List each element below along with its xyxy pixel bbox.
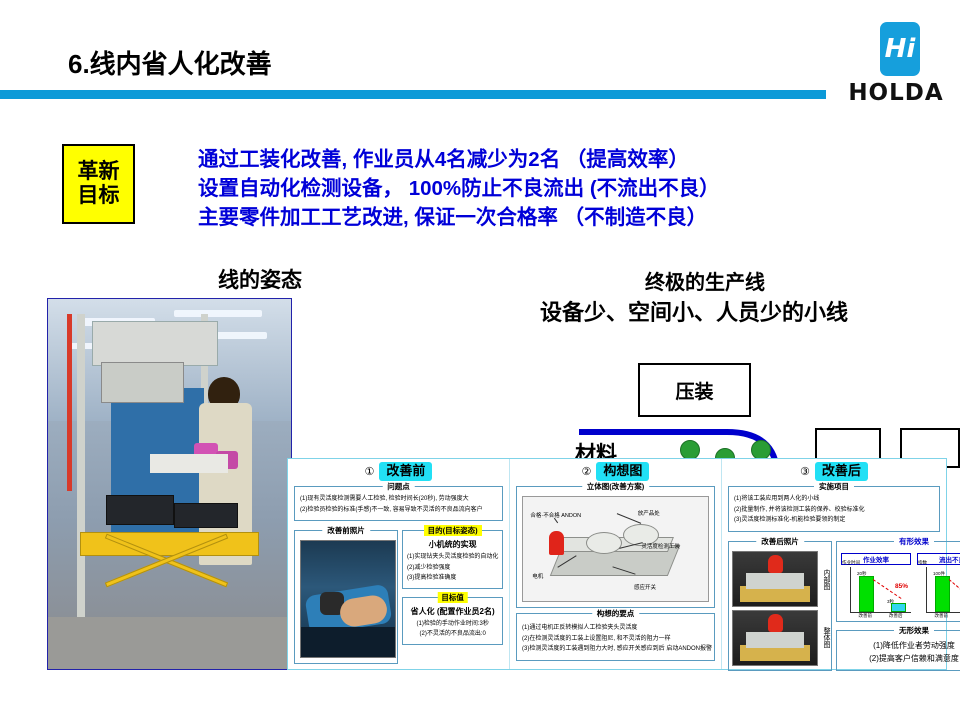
implementation-box: 实施项目 (1)将该工装应用到两人化的小线 (2)批量制作, 并将该检测工装的保… bbox=[728, 486, 940, 532]
x-label: 改善后 bbox=[889, 613, 903, 619]
intangible-list: (1)降低作业者劳动强度 (2)提高客户信赖和满意度 bbox=[841, 639, 960, 666]
photo-andon-lamp bbox=[768, 555, 782, 573]
panel-title-chip: 构想图 bbox=[596, 462, 649, 481]
panel-after-header: ③ 改善后 bbox=[726, 462, 942, 481]
photo-parts-tray bbox=[174, 503, 237, 529]
photo-parts-tray bbox=[106, 495, 174, 525]
concept-drawing: 合格·不合格 ANDON 放产品处 灵活度检测工装 电机 感应开关 bbox=[522, 496, 709, 602]
goal-statements: 通过工装化改善, 作业员从4名减少为2名 （提高效率） 设置自动化检测设备， 1… bbox=[198, 145, 950, 232]
concept-label-andon: 合格·不合格 ANDON bbox=[530, 511, 581, 519]
problem-points-list: (1)现有灵活度检测需要人工检验, 检验时间长(20秒), 劳动强度大 (2)检… bbox=[300, 494, 497, 515]
panel-title-chip: 改善前 bbox=[379, 462, 432, 481]
problem-item: (1)现有灵活度检测需要人工检验, 检验时间长(20秒), 劳动强度大 bbox=[300, 494, 497, 505]
photo-frame-post bbox=[77, 314, 85, 632]
logo-wordmark: HOLDA bbox=[844, 80, 948, 106]
goal-badge-line1: 革新 bbox=[78, 160, 120, 184]
flow-part-dot bbox=[680, 440, 700, 460]
bar-before bbox=[859, 576, 874, 611]
concept-points-box: 构想的要点 (1)通过电机正反转模拟人工检验夹头灵活度 (2)在检测灵活度的工装… bbox=[516, 613, 715, 661]
concept-label-switch: 感应开关 bbox=[634, 583, 656, 591]
purpose-headline: 小机统的实现 bbox=[407, 539, 498, 550]
photo-side-label: 整体图 bbox=[821, 627, 831, 648]
purpose-list: (1)实现钻夹头灵活度检验的自动化 (2)减少检验强度 (3)提高检验准确度 bbox=[407, 552, 498, 584]
tangible-effect-legend: 有形效果 bbox=[894, 536, 934, 547]
after-detail-row: 改善后照片 内部图 整体图 bbox=[728, 536, 940, 671]
after-effect-column: 有形效果 作业效率 作业时间 20秒 3秒 85% bbox=[836, 536, 960, 671]
photo-body bbox=[746, 573, 803, 589]
photo-red-pipe bbox=[67, 314, 72, 492]
chart-plot: 作业时间 20秒 3秒 85% bbox=[850, 567, 911, 613]
concept-label-fixture: 灵活度检测工装 bbox=[641, 542, 680, 550]
photo-lamp bbox=[174, 310, 261, 317]
factory-photo bbox=[47, 298, 292, 670]
panel-after: ③ 改善后 实施项目 (1)将该工装应用到两人化的小线 (2)批量制作, 并将该… bbox=[722, 459, 946, 669]
bar-before bbox=[935, 576, 950, 611]
target-box: 目标值 省人化 (配置作业员2名) (1)检验的手动作业时间:3秒 (2)不灵活… bbox=[402, 597, 503, 645]
before-photo-legend: 改善前照片 bbox=[322, 525, 370, 536]
holda-logo-icon: Hi bbox=[880, 22, 920, 76]
goal-badge: 革新 目标 bbox=[62, 144, 135, 224]
x-label: 改善前 bbox=[935, 613, 949, 619]
photo-floor bbox=[48, 617, 291, 669]
problem-item: (2)检验员检验的标准(手感)不一致, 容易导致不灵活的不良品流向客户 bbox=[300, 505, 497, 516]
after-photo-overall bbox=[732, 610, 818, 666]
before-photo bbox=[300, 540, 396, 658]
problem-points-legend: 问题点 bbox=[382, 481, 415, 492]
process-flow-diagram: 压装 材料 bbox=[555, 360, 955, 470]
chart-ylabel: 作业时间 bbox=[842, 560, 860, 566]
goal-line-1: 通过工装化改善, 作业员从4名减少为2名 （提高效率） bbox=[198, 145, 950, 174]
flow-part-dot bbox=[751, 440, 771, 460]
brand-logo: Hi HOLDA bbox=[844, 22, 948, 110]
target-legend: 目标值 bbox=[437, 592, 468, 603]
concept-point-item: (1)通过电机正反转模拟人工检验夹头灵活度 bbox=[522, 623, 709, 634]
goal-line-3: 主要零件加工工艺改进, 保证一次合格率 （不制造不良） bbox=[198, 203, 950, 232]
panel-concept-header: ② 构想图 bbox=[514, 462, 717, 481]
implementation-list: (1)将该工装应用到两人化的小线 (2)批量制作, 并将该检测工装的保养、校验标… bbox=[734, 494, 934, 526]
after-photo-internal bbox=[732, 551, 818, 607]
bar-after bbox=[891, 603, 906, 612]
page-title: 6.线内省人化改善 bbox=[68, 44, 272, 81]
problem-points-box: 问题点 (1)现有灵活度检测需要人工检验, 检验时间长(20秒), 劳动强度大 … bbox=[294, 486, 503, 521]
photo-workbench bbox=[150, 454, 228, 473]
concept-label-motor: 电机 bbox=[532, 572, 543, 580]
decrease-line bbox=[949, 579, 960, 603]
logo-mark-text: Hi bbox=[880, 22, 920, 76]
panel-before-header: ① 改善前 bbox=[292, 462, 505, 481]
andon-lamp-icon bbox=[549, 531, 564, 555]
photo-bench bbox=[301, 627, 395, 657]
caption-line-posture: 线的姿态 bbox=[218, 264, 302, 294]
title-divider bbox=[0, 90, 826, 99]
target-list: (1)检验的手动作业时间:3秒 (2)不灵活的不良品流出:0 bbox=[407, 619, 498, 640]
after-photo-stack bbox=[732, 551, 818, 667]
concept-point-item: (3)检测灵活度的工装遇到阻力大时, 感应开关感应到后 启动ANDON报警 bbox=[522, 644, 709, 655]
purpose-legend: 目的(目标姿态) bbox=[424, 525, 482, 536]
panel-before: ① 改善前 问题点 (1)现有灵活度检测需要人工检验, 检验时间长(20秒), … bbox=[288, 459, 510, 669]
panel-number: ② bbox=[582, 465, 592, 478]
target-headline: 省人化 (配置作业员2名) bbox=[407, 606, 498, 617]
implementation-item: (1)将该工装应用到两人化的小线 bbox=[734, 494, 934, 505]
photo-andon-lamp bbox=[768, 614, 782, 632]
chart-defect-outflow: 流出不良 指数 100件 0件 100% 改善前 bbox=[917, 553, 960, 619]
photo-body bbox=[746, 632, 803, 648]
before-goal-column: 目的(目标姿态) 小机统的实现 (1)实现钻夹头灵活度检验的自动化 (2)减少检… bbox=[402, 525, 503, 664]
concept-points-legend: 构想的要点 bbox=[592, 608, 640, 619]
goal-badge-line2: 目标 bbox=[78, 184, 120, 208]
concept-points-list: (1)通过电机正反转模拟人工检验夹头灵活度 (2)在检测灵活度的工装上设置阻尼,… bbox=[522, 623, 709, 655]
purpose-item: (3)提高检验准确度 bbox=[407, 573, 498, 584]
after-photo-side-labels: 内部图 整体图 bbox=[821, 551, 831, 667]
flow-box-press: 压装 bbox=[638, 363, 751, 417]
panel-number: ① bbox=[365, 465, 375, 478]
improvement-report-panels: ① 改善前 问题点 (1)现有灵活度检测需要人工检验, 检验时间长(20秒), … bbox=[287, 458, 947, 670]
tangible-effect-box: 有形效果 作业效率 作业时间 20秒 3秒 85% bbox=[836, 541, 960, 622]
effect-charts: 作业效率 作业时间 20秒 3秒 85% 改善前 bbox=[839, 550, 960, 619]
purpose-box: 目的(目标姿态) 小机统的实现 (1)实现钻夹头灵活度检验的自动化 (2)减少检… bbox=[402, 530, 503, 589]
purpose-item: (2)减少检验强度 bbox=[407, 563, 498, 574]
photo-overhead-panel bbox=[92, 321, 218, 365]
chart-x-labels: 改善前 改善后 bbox=[926, 613, 960, 619]
panel-title-chip: 改善后 bbox=[815, 462, 868, 481]
concept-drawing-box: 立体图(改善方案) 合格·不合格 ANDON 放产品处 灵活度检测工装 电机 感… bbox=[516, 486, 715, 608]
panel-number: ③ bbox=[800, 465, 810, 478]
implementation-item: (3)灵活度检测标准化-机能检验要领的制定 bbox=[734, 515, 934, 526]
intangible-item: (2)提高客户信赖和满意度 bbox=[841, 652, 960, 666]
before-detail-row: 改善前照片 目的(目标姿态) 小机统的实现 (1)实现钻夹头灵活度检验的自动化 … bbox=[294, 525, 503, 664]
caption-small-line: 设备少、空间小、人员少的小线 bbox=[540, 295, 848, 327]
intangible-effect-legend: 无形效果 bbox=[894, 625, 934, 636]
photo-side-label: 内部图 bbox=[821, 569, 831, 590]
photo-grey-head bbox=[101, 362, 184, 403]
purpose-item: (1)实现钻夹头灵活度检验的自动化 bbox=[407, 552, 498, 563]
chart-ylabel: 指数 bbox=[918, 560, 927, 566]
goal-line-2: 设置自动化检测设备， 100%防止不良流出 (不流出不良） bbox=[198, 174, 950, 203]
after-photo-box: 改善后照片 内部图 整体图 bbox=[728, 541, 832, 671]
chart-x-labels: 改善前 改善后 bbox=[850, 613, 911, 619]
implementation-legend: 实施项目 bbox=[814, 481, 854, 492]
before-photo-box: 改善前照片 bbox=[294, 530, 398, 664]
panel-concept: ② 构想图 立体图(改善方案) 合格·不合格 ANDON 放产品处 灵活度检测工… bbox=[510, 459, 722, 669]
intangible-item: (1)降低作业者劳动强度 bbox=[841, 639, 960, 653]
chart-plot: 指数 100件 0件 100% bbox=[926, 567, 960, 613]
implementation-item: (2)批量制作, 并将该检测工装的保养、校验标准化 bbox=[734, 505, 934, 516]
caption-ultimate-line: 终极的生产线 bbox=[645, 266, 765, 295]
concept-label-product: 放产品处 bbox=[638, 509, 660, 517]
after-photo-legend: 改善后照片 bbox=[756, 536, 804, 547]
target-item: (1)检验的手动作业时间:3秒 bbox=[407, 619, 498, 630]
target-item: (2)不灵活的不良品流出:0 bbox=[407, 629, 498, 640]
concept-point-item: (2)在检测灵活度的工装上设置阻尼, 和不灵活的阻力一样 bbox=[522, 634, 709, 645]
x-label: 改善前 bbox=[859, 613, 873, 619]
chart-work-efficiency: 作业效率 作业时间 20秒 3秒 85% 改善前 bbox=[841, 553, 911, 619]
concept-drawing-legend: 立体图(改善方案) bbox=[582, 481, 650, 492]
intangible-effect-box: 无形效果 (1)降低作业者劳动强度 (2)提高客户信赖和满意度 bbox=[836, 630, 960, 671]
reduction-percent: 85% bbox=[895, 583, 908, 590]
